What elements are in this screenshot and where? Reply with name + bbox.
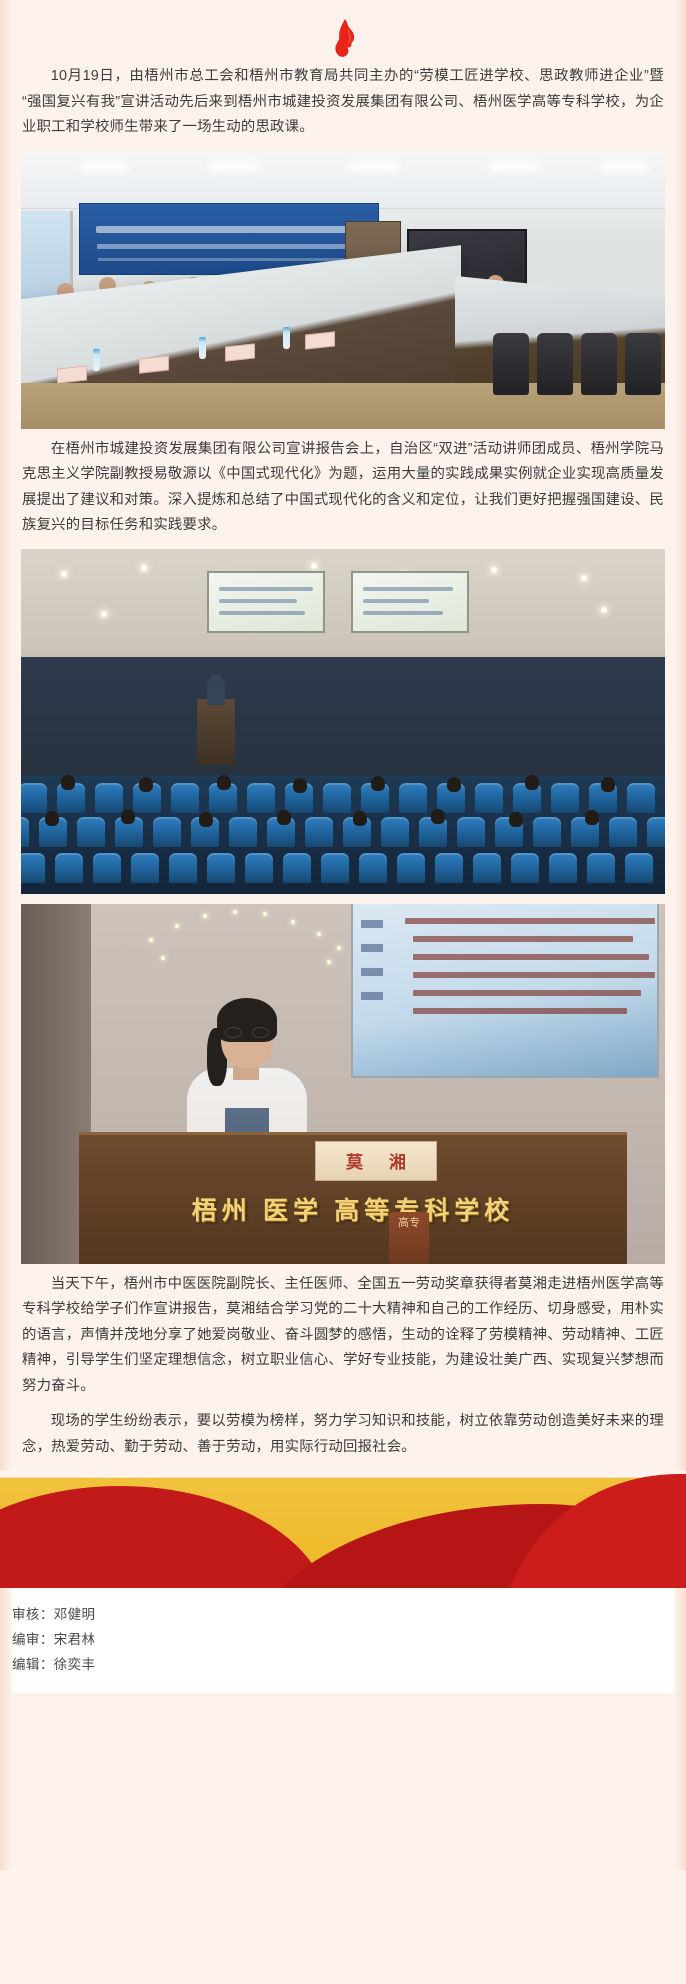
meeting-room-ceiling <box>21 151 665 209</box>
credit-value-review: 邓健明 <box>54 1607 96 1622</box>
paragraph-2: 在梧州市城建投资发展集团有限公司宣讲报告会上，自治区“双进”活动讲师团成员、梧州… <box>14 437 672 539</box>
credit-label-editorial-review: 编审 <box>12 1632 40 1647</box>
school-seal: 高专 <box>389 1212 429 1264</box>
flame-bird-ornament-wrap <box>14 0 672 62</box>
auditorium-ceiling <box>21 549 665 667</box>
empty-chairs-row <box>461 299 661 395</box>
credit-line-editor: 编辑：徐奕丰 <box>12 1652 674 1677</box>
article-content: 10月19日，由梧州市总工会和梧州市教育局共同主办的“劳模工匠进学校、思政教师进… <box>0 0 686 1460</box>
speaker-name-plate: 莫 湘 <box>315 1141 437 1181</box>
name-card <box>305 331 335 349</box>
name-card <box>57 365 87 383</box>
ceiling-spotlights <box>141 908 341 964</box>
credits-block: 审核：邓健明 编审：宋君林 编辑：徐奕丰 <box>0 1588 686 1693</box>
school-name-gold-text: 梧州 医学 高等专科学校 <box>79 1191 627 1227</box>
presentation-slide <box>351 904 659 1078</box>
name-plate-given: 湘 <box>389 1148 406 1173</box>
credit-label-review: 审核 <box>12 1607 40 1622</box>
water-bottle <box>283 327 290 349</box>
auditorium-stage-wall <box>21 657 665 779</box>
paragraph-4: 现场的学生纷纷表示，要以劳模为榜样，努力学习知识和技能，树立依靠劳动创造美好未来… <box>14 1409 672 1460</box>
projection-screen-left <box>207 571 325 633</box>
name-plate-surname: 莫 <box>346 1148 363 1173</box>
water-bottle <box>199 337 206 359</box>
auditorium-seating-area <box>21 775 665 894</box>
auditorium-podium <box>197 699 235 765</box>
bottom-decor-ribbon <box>0 1470 686 1588</box>
credit-value-editor: 徐奕丰 <box>54 1657 96 1672</box>
name-card <box>139 355 169 373</box>
lectern: 莫 湘 梧州 医学 高等专科学校 高专 <box>79 1132 627 1264</box>
credit-label-editor: 编辑 <box>12 1657 40 1672</box>
name-card <box>225 343 255 361</box>
red-flame-bird-ornament <box>321 16 365 60</box>
water-bottle <box>93 349 100 371</box>
paragraph-1: 10月19日，由梧州市总工会和梧州市教育局共同主办的“劳模工匠进学校、思政教师进… <box>14 64 672 141</box>
credit-value-editorial-review: 宋君林 <box>54 1632 96 1647</box>
projection-screen-right <box>351 571 469 633</box>
auditorium-speaker-figure <box>207 675 225 705</box>
photo-auditorium <box>21 549 665 894</box>
credit-line-editorial-review: 编审：宋君林 <box>12 1627 674 1652</box>
article-page: 10月19日，由梧州市总工会和梧州市教育局共同主办的“劳模工匠进学校、思政教师进… <box>0 0 686 1984</box>
photo-meeting-room <box>21 151 665 429</box>
credit-line-review: 审核：邓健明 <box>12 1602 674 1627</box>
photo-speaker-podium: 莫 湘 梧州 医学 高等专科学校 高专 <box>21 904 665 1264</box>
paragraph-3: 当天下午，梧州市中医医院副院长、主任医师、全国五一劳动奖章获得者莫湘走进梧州医学… <box>14 1272 672 1400</box>
eyeglasses-icon <box>225 1027 269 1038</box>
